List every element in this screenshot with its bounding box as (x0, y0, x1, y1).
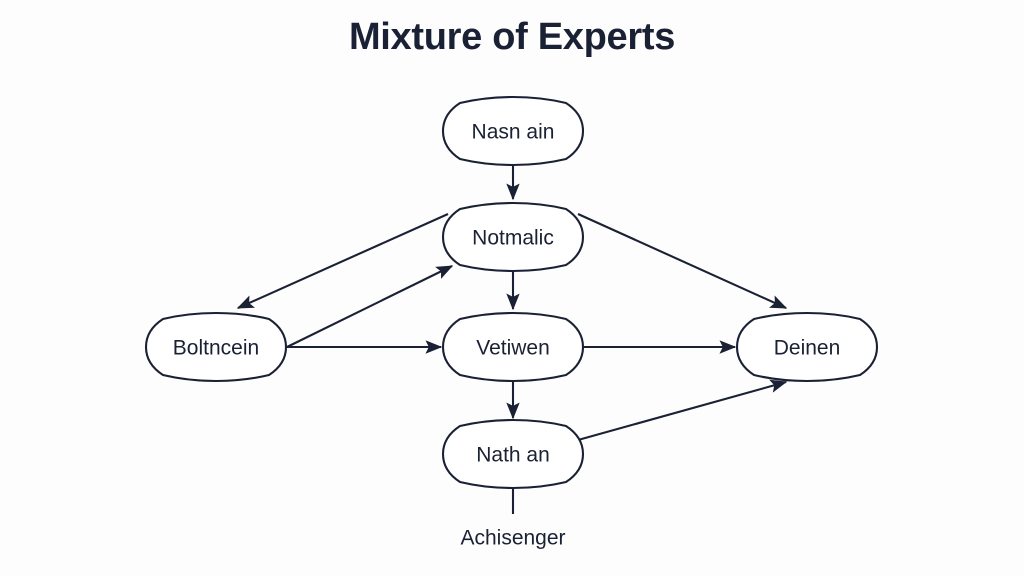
edge-bottom-to-right (578, 382, 786, 440)
edge-left-to-second (287, 266, 452, 347)
node-nasn-ain[interactable]: Nasn ain (443, 97, 583, 165)
node-label: Vetiwen (476, 337, 550, 360)
node-label: Notmalic (472, 227, 554, 250)
node-vetiwen[interactable]: Vetiwen (443, 313, 583, 381)
node-deinen[interactable]: Deinen (737, 313, 877, 381)
node-label: Nath an (476, 444, 550, 467)
edge-second-to-right (578, 214, 786, 308)
diagram-caption: Achisenger (460, 527, 565, 550)
node-nath-an[interactable]: Nath an (443, 420, 583, 488)
diagram-canvas: Mixture of Experts (0, 0, 1024, 576)
node-label: Boltncein (173, 337, 259, 360)
diagram-graph: Nasn ain Notmalic Boltncein Vetiwen Dein… (0, 0, 1024, 576)
node-label: Nasn ain (472, 121, 555, 144)
edge-second-to-left (238, 214, 448, 308)
node-notmalic[interactable]: Notmalic (443, 203, 583, 271)
node-layer: Nasn ain Notmalic Boltncein Vetiwen Dein… (146, 97, 877, 488)
node-label: Deinen (774, 337, 841, 360)
node-boltncein[interactable]: Boltncein (146, 313, 286, 381)
